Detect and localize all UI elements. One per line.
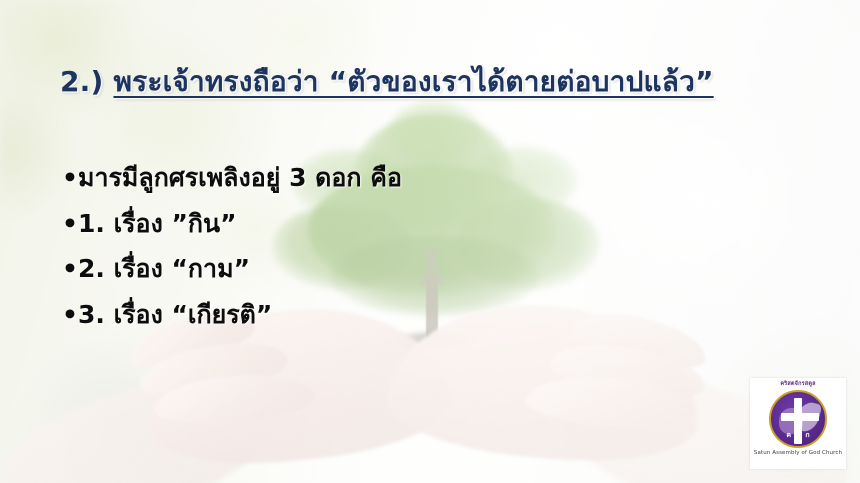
list-item-label: 1. เรื่อง ”กิน”	[78, 209, 702, 239]
bullet-list: • มารมีลูกศรเพลิงอยู่ 3 ดอก คือ • 1. เรื…	[62, 163, 702, 329]
slide-title-number: 2.)	[60, 65, 113, 98]
bullet-dot-icon: •	[62, 254, 78, 284]
list-item-label: มารมีลูกศรเพลิงอยู่ 3 ดอก คือ	[78, 163, 702, 193]
church-logo: คริสตจักรสตูล ค ก Satun Assembly of God …	[750, 378, 846, 469]
presentation-slide: 2.) พระเจ้าทรงถือว่า “ตัวของเราได้ตายต่อ…	[0, 0, 860, 483]
bullet-dot-icon: •	[62, 209, 78, 239]
cross-icon-crossbar	[781, 413, 819, 421]
slide-content: 2.) พระเจ้าทรงถือว่า “ตัวของเราได้ตายต่อ…	[0, 0, 860, 483]
list-item: • 3. เรื่อง “เกียรติ”	[62, 300, 702, 330]
list-item: • มารมีลูกศรเพลิงอยู่ 3 ดอก คือ	[62, 163, 702, 193]
church-logo-english-name: Satun Assembly of God Church	[754, 451, 842, 457]
church-logo-thai-name: คริสตจักรสตูล	[780, 382, 815, 388]
list-item-label: 2. เรื่อง “กาม”	[78, 254, 702, 284]
list-item: • 1. เรื่อง ”กิน”	[62, 209, 702, 239]
slide-title: 2.) พระเจ้าทรงถือว่า “ตัวของเราได้ตายต่อ…	[60, 64, 820, 99]
list-item-label: 3. เรื่อง “เกียรติ”	[78, 300, 702, 330]
slide-title-headline: พระเจ้าทรงถือว่า “ตัวของเราได้ตายต่อบาปแ…	[113, 65, 713, 98]
church-emblem-icon: ค ก	[769, 390, 827, 448]
list-item: • 2. เรื่อง “กาม”	[62, 254, 702, 284]
bullet-dot-icon: •	[62, 300, 78, 330]
emblem-initials: ค ก	[771, 430, 825, 441]
bullet-dot-icon: •	[62, 163, 78, 193]
